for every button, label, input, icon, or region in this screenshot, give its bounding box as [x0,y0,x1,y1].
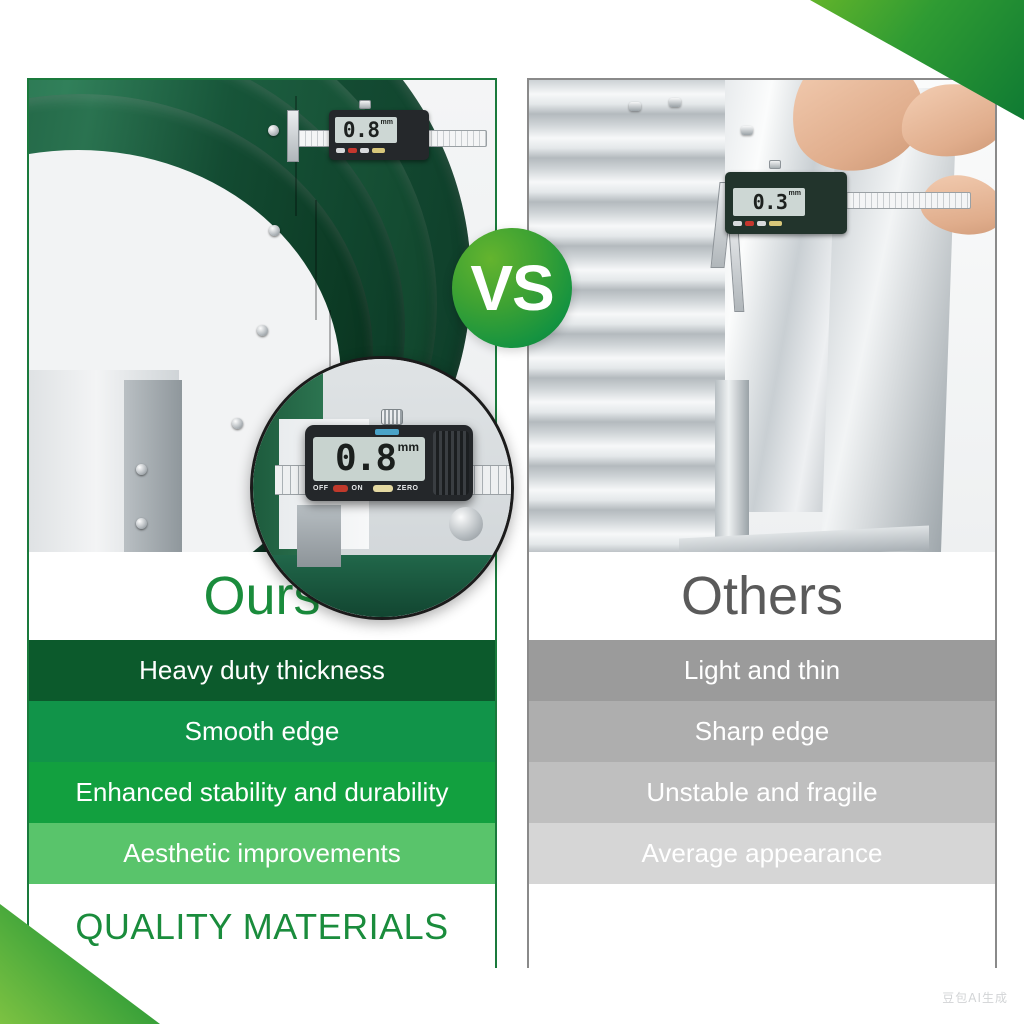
ours-feature-label: Enhanced stability and durability [76,777,449,808]
panel-seam-2 [315,200,317,320]
caliper-thumb-knob [769,160,781,169]
ours-feature-list: Heavy duty thickness Smooth edge Enhance… [29,640,495,884]
ours-footer-text: QUALITY MATERIALS [75,906,448,948]
caliper-body: 0.8 mm [329,110,429,160]
ours-feature-row: Enhanced stability and durability [29,762,495,823]
ours-panel: 0.8 mm [27,78,497,968]
ours-feature-row: Smooth edge [29,701,495,762]
others-heading-text: Others [681,569,843,623]
caliper-grip [433,431,469,495]
ours-footer: QUALITY MATERIALS [29,884,495,970]
ours-feature-label: Smooth edge [185,716,340,747]
caliper-off-label: OFF [313,485,329,492]
others-feature-row: Average appearance [529,823,995,884]
others-feature-row: Sharp edge [529,701,995,762]
ours-feature-row: Heavy duty thickness [29,640,495,701]
ours-feature-row: Aesthetic improvements [29,823,495,884]
caliper-zero-label: ZERO [397,485,418,492]
bed-bolt [232,418,243,429]
caliper-thumb-knob [359,100,371,109]
caliper-device-small: 0.3 mm [691,158,931,262]
caliper-unit: mm [398,440,419,454]
caliper-body: 0.8 mm OFF ON ZERO [305,425,473,501]
caliper-zero-button[interactable] [372,148,385,153]
caliper-thumb-knob [381,409,403,425]
magnifier-background: 0.8 mm OFF ON ZERO [253,359,511,617]
others-feature-label: Light and thin [684,655,840,686]
vs-badge-label: VS [470,256,553,320]
caliper-unit: mm [789,190,801,197]
watermark: 豆包AI生成 [942,989,1008,1006]
others-feature-row: Unstable and fragile [529,762,995,823]
others-feature-row: Light and thin [529,640,995,701]
caliper-lcd: 0.8 mm [335,117,397,143]
galvanized-bolt [629,102,641,111]
caliper-off-button[interactable] [336,148,345,153]
caliper-lcd: 0.8 mm [313,437,425,481]
caliper-power-indicator [348,148,357,153]
caliper-jaw [287,110,299,162]
ours-magnifier-bubble: 0.8 mm OFF ON ZERO [250,356,514,620]
caliper-body: 0.3 mm [725,172,847,234]
others-feature-label: Average appearance [642,838,883,869]
caliper-button-group[interactable] [336,148,385,153]
ours-feature-label: Aesthetic improvements [123,838,400,869]
caliper-off-button[interactable] [733,221,742,226]
bed-bolt [136,518,147,529]
bed-bolt [257,325,268,336]
magnified-bed-bottom [253,555,511,617]
caliper-reading: 0.3 [753,192,788,212]
bed-bolt [136,464,147,475]
caliper-unit: mm [381,119,393,126]
comparison-infographic: 0.8 mm [0,0,1024,1024]
caliper-on-button[interactable] [757,221,766,226]
caliper-zero-button[interactable] [769,221,782,226]
galvanized-support-post [715,380,749,552]
caliper-reading: 0.8 [335,443,396,475]
caliper-lcd: 0.3 mm [733,188,805,216]
bed-bolt [268,125,279,136]
others-feature-list: Light and thin Sharp edge Unstable and f… [529,640,995,884]
caliper-mode-button[interactable] [375,429,399,435]
vs-badge: VS [452,228,572,348]
caliper-zero-button[interactable] [373,485,393,492]
others-footer [529,884,995,970]
caliper-on-label: ON [352,485,364,492]
bed-side-strip-shadow [124,380,182,552]
galvanized-bolt [741,126,753,135]
caliper-power-indicator [333,485,348,492]
caliper-on-button[interactable] [360,148,369,153]
galvanized-bolt [669,98,681,107]
caliper-device-small: 0.8 mm [287,88,487,188]
caliper-button-group[interactable] [733,221,782,226]
bed-bolt [269,225,280,236]
others-feature-label: Unstable and fragile [646,777,877,808]
caliper-power-indicator [745,221,754,226]
ours-feature-label: Heavy duty thickness [139,655,385,686]
others-heading: Others [529,552,995,640]
magnified-bolt [449,507,483,541]
caliper-reading: 0.8 [343,120,380,141]
others-feature-label: Sharp edge [695,716,829,747]
others-product-photo: 0.3 mm [529,80,995,552]
others-panel: 0.3 mm [527,78,997,968]
caliper-button-group[interactable]: OFF ON ZERO [313,485,418,492]
